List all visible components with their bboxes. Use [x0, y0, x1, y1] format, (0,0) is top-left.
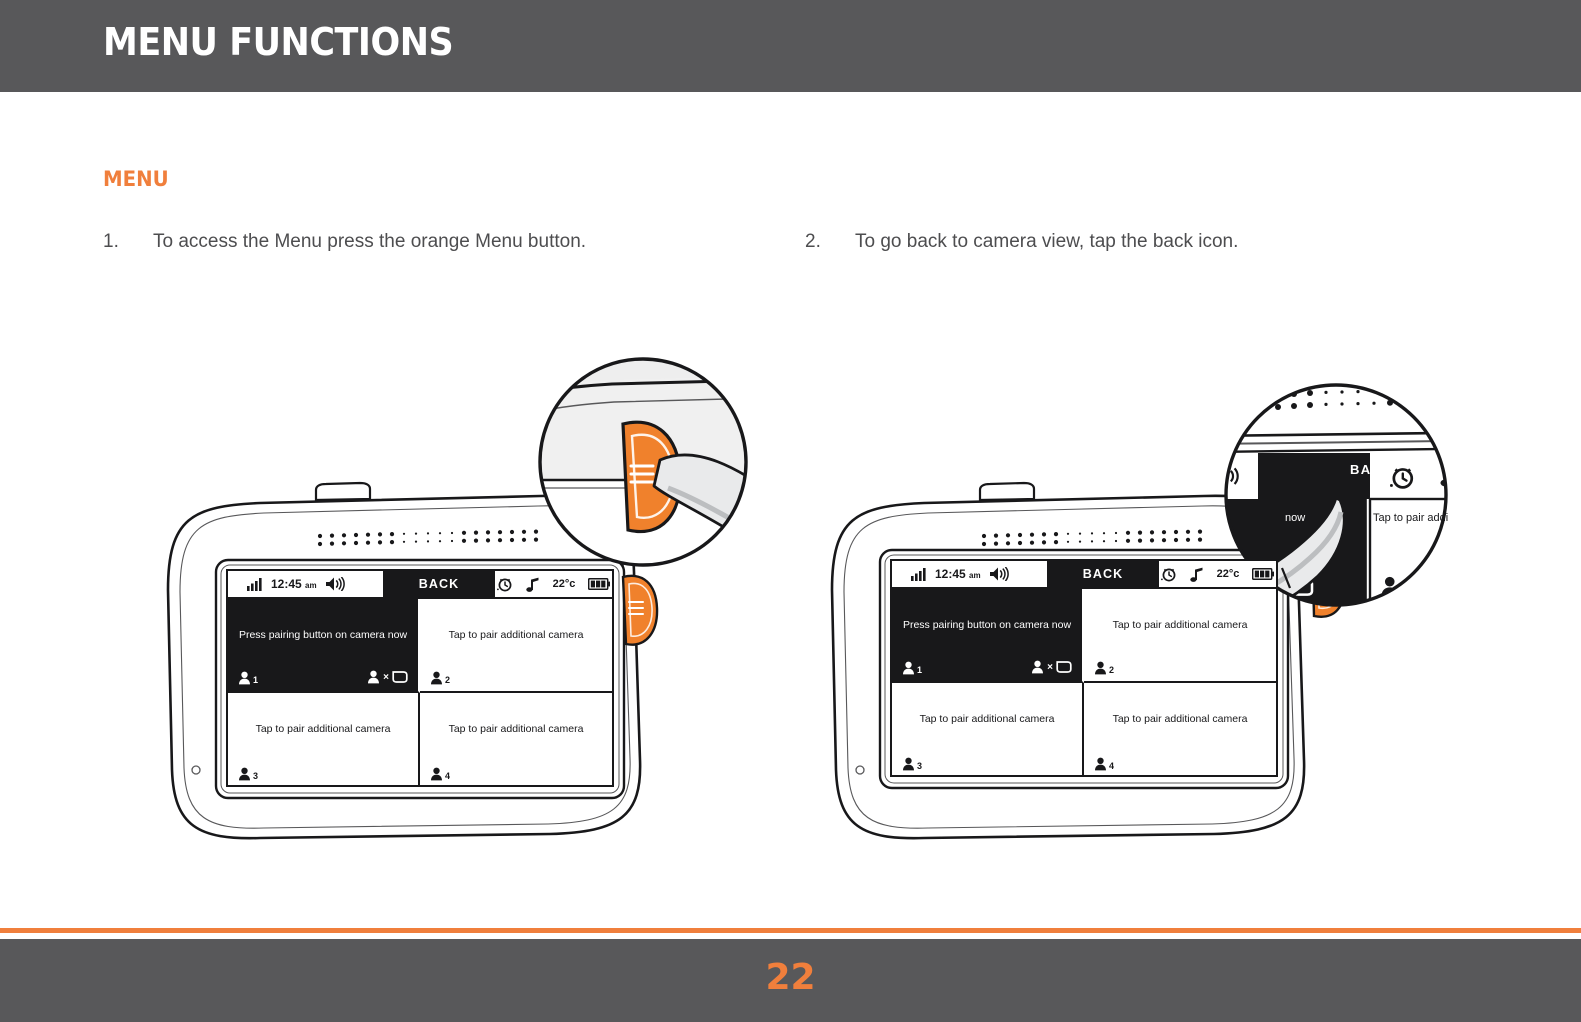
device-screen[interactable]: 12:45 am BACK [890, 559, 1278, 777]
camera-cell-4[interactable]: Tap to pair additional camera 4 [420, 693, 612, 787]
step-item-2: 2. To go back to camera view, tap the ba… [805, 231, 1238, 253]
camera-badge: 4 [1094, 757, 1114, 771]
camera-number: 4 [1109, 761, 1114, 771]
camera-badge: 2 [1094, 661, 1114, 675]
statusbar-left-group: 12:45 am [228, 571, 383, 597]
camera-icon [1094, 757, 1107, 771]
illustration-back-icon-tap: BACK now Tap to pair addi 22°c 12:45 am [820, 340, 1460, 860]
camera-badge: 2 [430, 671, 450, 685]
camera-cell-label: Tap to pair additional camera [1084, 619, 1276, 632]
camera-cell-1[interactable]: Press pairing button on camera now 1 × [228, 599, 420, 693]
alarm-clock-icon [1161, 566, 1177, 582]
page-header: MENU FUNCTIONS [0, 0, 1581, 92]
camera-cell-2[interactable]: Tap to pair additional camera 2 [1084, 589, 1276, 683]
camera-cell-3[interactable]: Tap to pair additional camera 3 [892, 683, 1084, 777]
device-screen[interactable]: 12:45 am BACK [226, 569, 614, 787]
callout-back-label[interactable]: BACK [1350, 462, 1393, 477]
camera-number: 4 [445, 771, 450, 781]
page-title: MENU FUNCTIONS [103, 20, 453, 64]
battery-full-icon [1252, 568, 1274, 580]
camera-badge: 3 [238, 767, 258, 781]
multiply-symbol: × [1047, 662, 1053, 673]
callout-partial-label-left: now [1285, 512, 1305, 524]
volume-on-icon [990, 567, 1009, 581]
manual-page: MENU FUNCTIONS MENU 1. To access the Men… [0, 0, 1581, 1022]
screen-statusbar: 12:45 am BACK [892, 561, 1276, 589]
camera-icon [238, 671, 251, 685]
camera-number: 3 [253, 771, 258, 781]
camera-icon [902, 757, 915, 771]
camera-cell-2[interactable]: Tap to pair additional camera 2 [420, 599, 612, 693]
signal-bars-icon [247, 578, 262, 591]
section-heading: MENU [103, 167, 169, 191]
camera-icon [1094, 661, 1107, 675]
volume-on-icon [326, 577, 345, 591]
orange-menu-button-icon[interactable] [623, 576, 657, 645]
camera-off-screen-icon [1056, 661, 1072, 673]
camera-badge: 1 [902, 661, 922, 675]
camera-cell-label: Tap to pair additional camera [228, 723, 418, 736]
camera-number: 2 [445, 675, 450, 685]
camera-grid: Press pairing button on camera now 1 × [228, 599, 612, 787]
camera-cell-3[interactable]: Tap to pair additional camera 3 [228, 693, 420, 787]
statusbar-left-group: 12:45 am [892, 561, 1047, 587]
back-button[interactable]: BACK [383, 571, 495, 597]
microphone-hole-icon [192, 766, 200, 774]
microphone-hole-icon [856, 766, 864, 774]
music-note-icon [526, 577, 540, 592]
step-text: To access the Menu press the orange Menu… [153, 231, 586, 253]
footer-accent-rule [0, 928, 1581, 933]
camera-cell-label: Press pairing button on camera now [892, 619, 1082, 632]
camera-icon [430, 767, 443, 781]
statusbar-right-group: 22°c [1159, 561, 1276, 587]
camera-cell-4[interactable]: Tap to pair additional camera 4 [1084, 683, 1276, 777]
step-number: 2. [805, 231, 855, 253]
temperature-reading: 22°c [1217, 568, 1240, 580]
music-note-icon [1190, 567, 1204, 582]
camera-number: 2 [1109, 665, 1114, 675]
camera-badge: 4 [430, 767, 450, 781]
statusbar-time: 12:45 am [271, 577, 317, 591]
camera-icon [430, 671, 443, 685]
camera-off-screen-group: × [1031, 660, 1072, 674]
camera-cell-label: Tap to pair additional camera [1084, 713, 1276, 726]
alarm-clock-icon [497, 576, 513, 592]
camera-cell-label: Press pairing button on camera now [228, 629, 418, 642]
camera-cell-label: Tap to pair additional camera [420, 723, 612, 736]
camera-off-screen-icon [392, 671, 408, 683]
statusbar-time: 12:45 am [935, 567, 981, 581]
camera-icon [902, 661, 915, 675]
step-item-1: 1. To access the Menu press the orange M… [103, 231, 586, 253]
camera-cell-label: Tap to pair additional camera [892, 713, 1082, 726]
camera-grid: Press pairing button on camera now 1 × [892, 589, 1276, 777]
back-button[interactable]: BACK [1047, 561, 1159, 587]
statusbar-right-group: 22°c [495, 571, 612, 597]
camera-cell-label: Tap to pair additional camera [420, 629, 612, 642]
illustration-menu-button-press: 12:45 am BACK [140, 340, 780, 860]
screen-statusbar: 12:45 am BACK [228, 571, 612, 599]
temperature-reading: 22°c [553, 578, 576, 590]
page-number: 22 [0, 957, 1581, 998]
camera-number: 1 [917, 665, 922, 675]
camera-number: 3 [917, 761, 922, 771]
camera-icon [238, 767, 251, 781]
step-text: To go back to camera view, tap the back … [855, 231, 1238, 253]
callout-partial-label-right: Tap to pair addi [1373, 512, 1448, 524]
camera-badge: 3 [902, 757, 922, 771]
camera-icon [367, 670, 380, 684]
camera-off-screen-group: × [367, 670, 408, 684]
camera-number: 1 [253, 675, 258, 685]
signal-bars-icon [911, 568, 926, 581]
multiply-symbol: × [383, 672, 389, 683]
step-number: 1. [103, 231, 153, 253]
battery-full-icon [588, 578, 610, 590]
camera-cell-1[interactable]: Press pairing button on camera now 1 × [892, 589, 1084, 683]
camera-badge: 1 [238, 671, 258, 685]
camera-icon [1031, 660, 1044, 674]
